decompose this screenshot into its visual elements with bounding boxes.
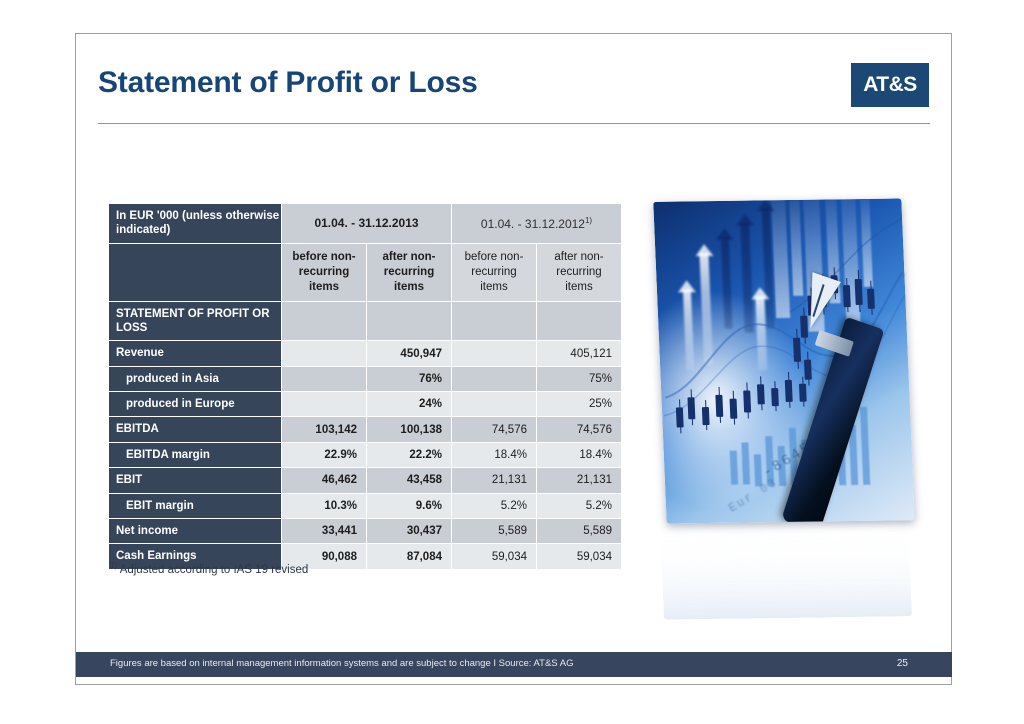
cell-value: 450,947 [367, 341, 451, 365]
footnote-marker: 1) [110, 561, 117, 570]
table-row: EBIT margin10.3%9.6%5.2%5.2% [109, 494, 621, 518]
cell-empty [452, 392, 536, 416]
row-label: EBIT [109, 468, 281, 492]
row-label: STATEMENT OF PROFIT OR LOSS [109, 302, 281, 341]
cell-value: 59,034 [537, 544, 621, 568]
subhead-prior-before: before non-recurring items [452, 244, 536, 301]
table-row: EBITDA margin22.9%22.2%18.4%18.4% [109, 443, 621, 467]
row-label: EBIT margin [109, 494, 281, 518]
cell-value: 24% [367, 392, 451, 416]
cell-value: 75% [537, 367, 621, 391]
cell-empty [282, 392, 366, 416]
cell-value: 5,589 [452, 519, 536, 543]
cell-value: 21,131 [452, 468, 536, 492]
table-corner-label: In EUR '000 (unless otherwise indicated) [109, 204, 281, 243]
row-label: Revenue [109, 341, 281, 365]
cell-value: 59,034 [452, 544, 536, 568]
cell-value: 18.4% [452, 443, 536, 467]
table-header-row-periods: In EUR '000 (unless otherwise indicated)… [109, 204, 621, 243]
ats-logo: AT&S [851, 63, 929, 107]
financial-table: In EUR '000 (unless otherwise indicated)… [108, 203, 622, 570]
cell-value: 76% [367, 367, 451, 391]
cell-empty [537, 302, 621, 341]
cell-value: 5.2% [452, 494, 536, 518]
page-title: Statement of Profit or Loss [98, 66, 478, 100]
table-row: Net income33,44130,4375,5895,589 [109, 519, 621, 543]
table-row: STATEMENT OF PROFIT OR LOSS [109, 302, 621, 341]
cell-value: 5,589 [537, 519, 621, 543]
slide-root: Statement of Profit or Loss AT&S In EUR … [0, 0, 1024, 724]
decorative-photo: -8645 Eur 03 [660, 200, 930, 545]
row-label: EBITDA margin [109, 443, 281, 467]
photo-financial-chart: -8645 Eur 03 [653, 198, 915, 523]
cell-value: 100,138 [367, 417, 451, 441]
logo-text: AT&S [863, 73, 917, 97]
row-label: Net income [109, 519, 281, 543]
cell-value: 5.2% [537, 494, 621, 518]
cell-value: 87,084 [367, 544, 451, 568]
photo-content: -8645 Eur 03 [653, 198, 915, 523]
cell-value: 22.9% [282, 443, 366, 467]
cell-value: 21,131 [537, 468, 621, 492]
cell-value: 10.3% [282, 494, 366, 518]
table-row: produced in Europe 24% 25% [109, 392, 621, 416]
cell-value: 103,142 [282, 417, 366, 441]
footnote-text: Adjusted according to IAS 19 revised [120, 564, 309, 576]
cell-empty [282, 341, 366, 365]
cell-empty [367, 302, 451, 341]
page-number: 25 [897, 658, 908, 669]
table-subhead-corner [109, 244, 281, 301]
period-header-current: 01.04. - 31.12.2013 [282, 204, 451, 243]
cell-value: 18.4% [537, 443, 621, 467]
period-prior-footnote-marker: 1) [585, 216, 592, 225]
table-footnote: 1) Adjusted according to IAS 19 revised [110, 561, 308, 576]
cell-value: 43,458 [367, 468, 451, 492]
cell-value: 33,441 [282, 519, 366, 543]
cell-empty [452, 302, 536, 341]
cell-value: 9.6% [367, 494, 451, 518]
subhead-prior-after: after non-recurring items [537, 244, 621, 301]
table-row: EBIT46,46243,45821,13121,131 [109, 468, 621, 492]
table-header-row-subheads: before non-recurring items after non-rec… [109, 244, 621, 301]
cell-empty [282, 367, 366, 391]
cell-value: 25% [537, 392, 621, 416]
cell-value: 22.2% [367, 443, 451, 467]
table-row: EBITDA103,142100,13874,57674,576 [109, 417, 621, 441]
period-prior-text: 01.04. - 31.12.2012 [481, 217, 585, 231]
footer-bar: Figures are based on internal management… [76, 652, 952, 677]
footer-disclaimer: Figures are based on internal management… [110, 658, 573, 669]
cell-value: 405,121 [537, 341, 621, 365]
cell-value: 30,437 [367, 519, 451, 543]
photo-reflection [660, 520, 912, 619]
subhead-current-after: after non-recurring items [367, 244, 451, 301]
table-body: STATEMENT OF PROFIT OR LOSS Revenue 450,… [109, 302, 621, 569]
cell-value: 46,462 [282, 468, 366, 492]
cell-value: 74,576 [537, 417, 621, 441]
period-header-prior: 01.04. - 31.12.20121) [452, 204, 621, 243]
table-row: Revenue 450,947 405,121 [109, 341, 621, 365]
row-label: produced in Asia [109, 367, 281, 391]
cell-value: 74,576 [452, 417, 536, 441]
title-divider [98, 123, 930, 124]
cell-empty [452, 367, 536, 391]
row-label: produced in Europe [109, 392, 281, 416]
table-row: produced in Asia 76% 75% [109, 367, 621, 391]
row-label: EBITDA [109, 417, 281, 441]
cell-empty [452, 341, 536, 365]
cell-empty [282, 302, 366, 341]
subhead-current-before: before non-recurring items [282, 244, 366, 301]
